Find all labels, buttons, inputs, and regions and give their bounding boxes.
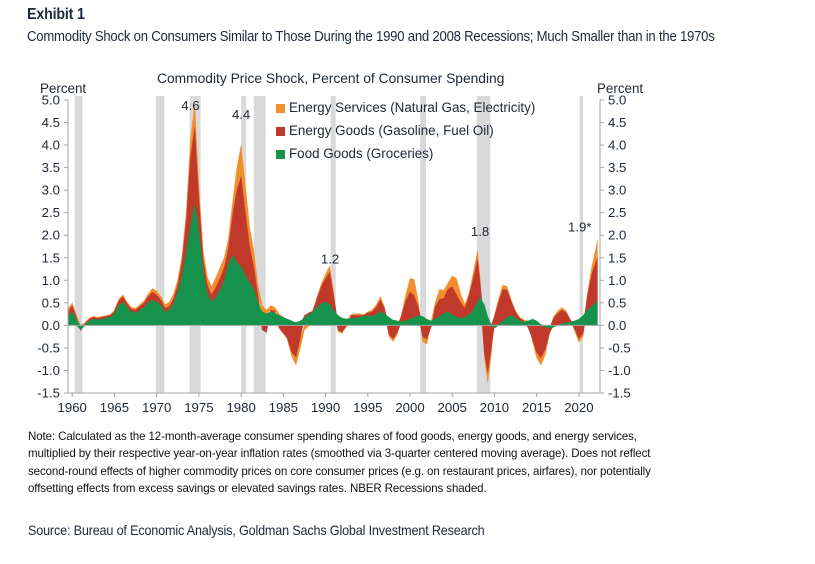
y-tick-label-left: 1.0	[42, 273, 60, 288]
recession-band	[156, 96, 164, 393]
y-tick-label-right: 0.5	[608, 295, 626, 310]
y-tick-label-left: 0.0	[42, 318, 60, 333]
y-tick-label-left: 2.5	[42, 205, 60, 220]
data-callout: 1.9*	[568, 220, 591, 235]
y-tick-label-left: 5.0	[42, 93, 60, 108]
x-tick-label: 2005	[438, 400, 467, 415]
y-tick-label-left: 3.5	[42, 160, 60, 175]
x-axis-ticks: 1960196519701975198019851990199520002005…	[58, 393, 594, 415]
y-tick-label-right: 2.5	[608, 205, 626, 220]
y-tick-label-right: 3.5	[608, 160, 626, 175]
x-tick-label: 1990	[311, 400, 340, 415]
data-callout: 1.8	[471, 224, 489, 239]
y-tick-label-right: 1.0	[608, 273, 626, 288]
chart-source: Source: Bureau of Economic Analysis, Gol…	[28, 523, 484, 538]
legend-swatch	[276, 104, 285, 113]
recession-band	[420, 96, 426, 393]
legend-swatch	[276, 150, 285, 159]
recession-band	[254, 96, 266, 393]
y-tick-label-left: 4.5	[42, 115, 60, 130]
y-tick-label-right: 1.5	[608, 250, 626, 265]
recession-band	[75, 96, 83, 393]
y-tick-label-right: -1.0	[608, 363, 631, 378]
y-tick-label-left: -1.5	[37, 386, 60, 401]
recession-band	[580, 96, 583, 393]
exhibit-page: Exhibit 1 Commodity Shock on Consumers S…	[0, 0, 815, 564]
x-tick-label: 2015	[522, 400, 551, 415]
legend-label: Energy Goods (Gasoline, Fuel Oil)	[289, 123, 494, 138]
recession-bands	[75, 96, 583, 393]
y-tick-label-left: 2.0	[42, 228, 60, 243]
x-tick-label: 1995	[353, 400, 382, 415]
exhibit-subtitle: Commodity Shock on Consumers Similar to …	[27, 29, 715, 45]
y-tick-label-left: 1.5	[42, 250, 60, 265]
y-tick-label-right: 3.0	[608, 183, 626, 198]
x-tick-label: 2000	[395, 400, 424, 415]
data-callout: 4.4	[232, 107, 250, 122]
y-tick-label-left: -0.5	[37, 340, 60, 355]
data-callout: 4.6	[181, 98, 199, 113]
chart-note: Note: Calculated as the 12-month-average…	[28, 428, 680, 498]
y-tick-label-right: 4.0	[608, 138, 626, 153]
x-tick-label: 1980	[226, 400, 255, 415]
legend-label: Food Goods (Groceries)	[289, 146, 433, 161]
y-tick-label-right: 0.0	[608, 318, 626, 333]
x-tick-label: 1975	[184, 400, 213, 415]
chart-legend: Energy Services (Natural Gas, Electricit…	[276, 100, 535, 161]
data-callout: 1.2	[321, 251, 339, 266]
y-tick-label-right: -1.5	[608, 386, 631, 401]
y-tick-label-right: 4.5	[608, 115, 626, 130]
x-tick-label: 1965	[100, 400, 129, 415]
legend-label: Energy Services (Natural Gas, Electricit…	[289, 100, 535, 115]
x-tick-label: 2020	[564, 400, 593, 415]
commodity-shock-area-chart: Commodity Price Shock, Percent of Consum…	[27, 68, 677, 416]
chart-heading: Commodity Price Shock, Percent of Consum…	[157, 71, 504, 86]
y-tick-label-left: -1.0	[37, 363, 60, 378]
y-tick-label-left: 0.5	[42, 295, 60, 310]
y-tick-label-right: 5.0	[608, 93, 626, 108]
exhibit-label: Exhibit 1	[27, 6, 85, 24]
x-tick-label: 1970	[142, 400, 171, 415]
y-tick-label-left: 3.0	[42, 183, 60, 198]
y-tick-label-right: -0.5	[608, 340, 631, 355]
y-axis-ticks-left: 5.04.54.03.53.02.52.01.51.00.50.0-0.5-1.…	[37, 93, 68, 401]
x-tick-label: 1960	[58, 400, 87, 415]
y-tick-label-right: 2.0	[608, 228, 626, 243]
x-tick-label: 1985	[269, 400, 298, 415]
chart-container: Commodity Price Shock, Percent of Consum…	[27, 68, 677, 416]
legend-swatch	[276, 127, 285, 136]
y-axis-ticks-right: 5.04.54.03.53.02.52.01.51.00.50.0-0.5-1.…	[600, 93, 631, 401]
recession-band	[331, 96, 336, 393]
x-tick-label: 2010	[480, 400, 509, 415]
y-tick-label-left: 4.0	[42, 138, 60, 153]
